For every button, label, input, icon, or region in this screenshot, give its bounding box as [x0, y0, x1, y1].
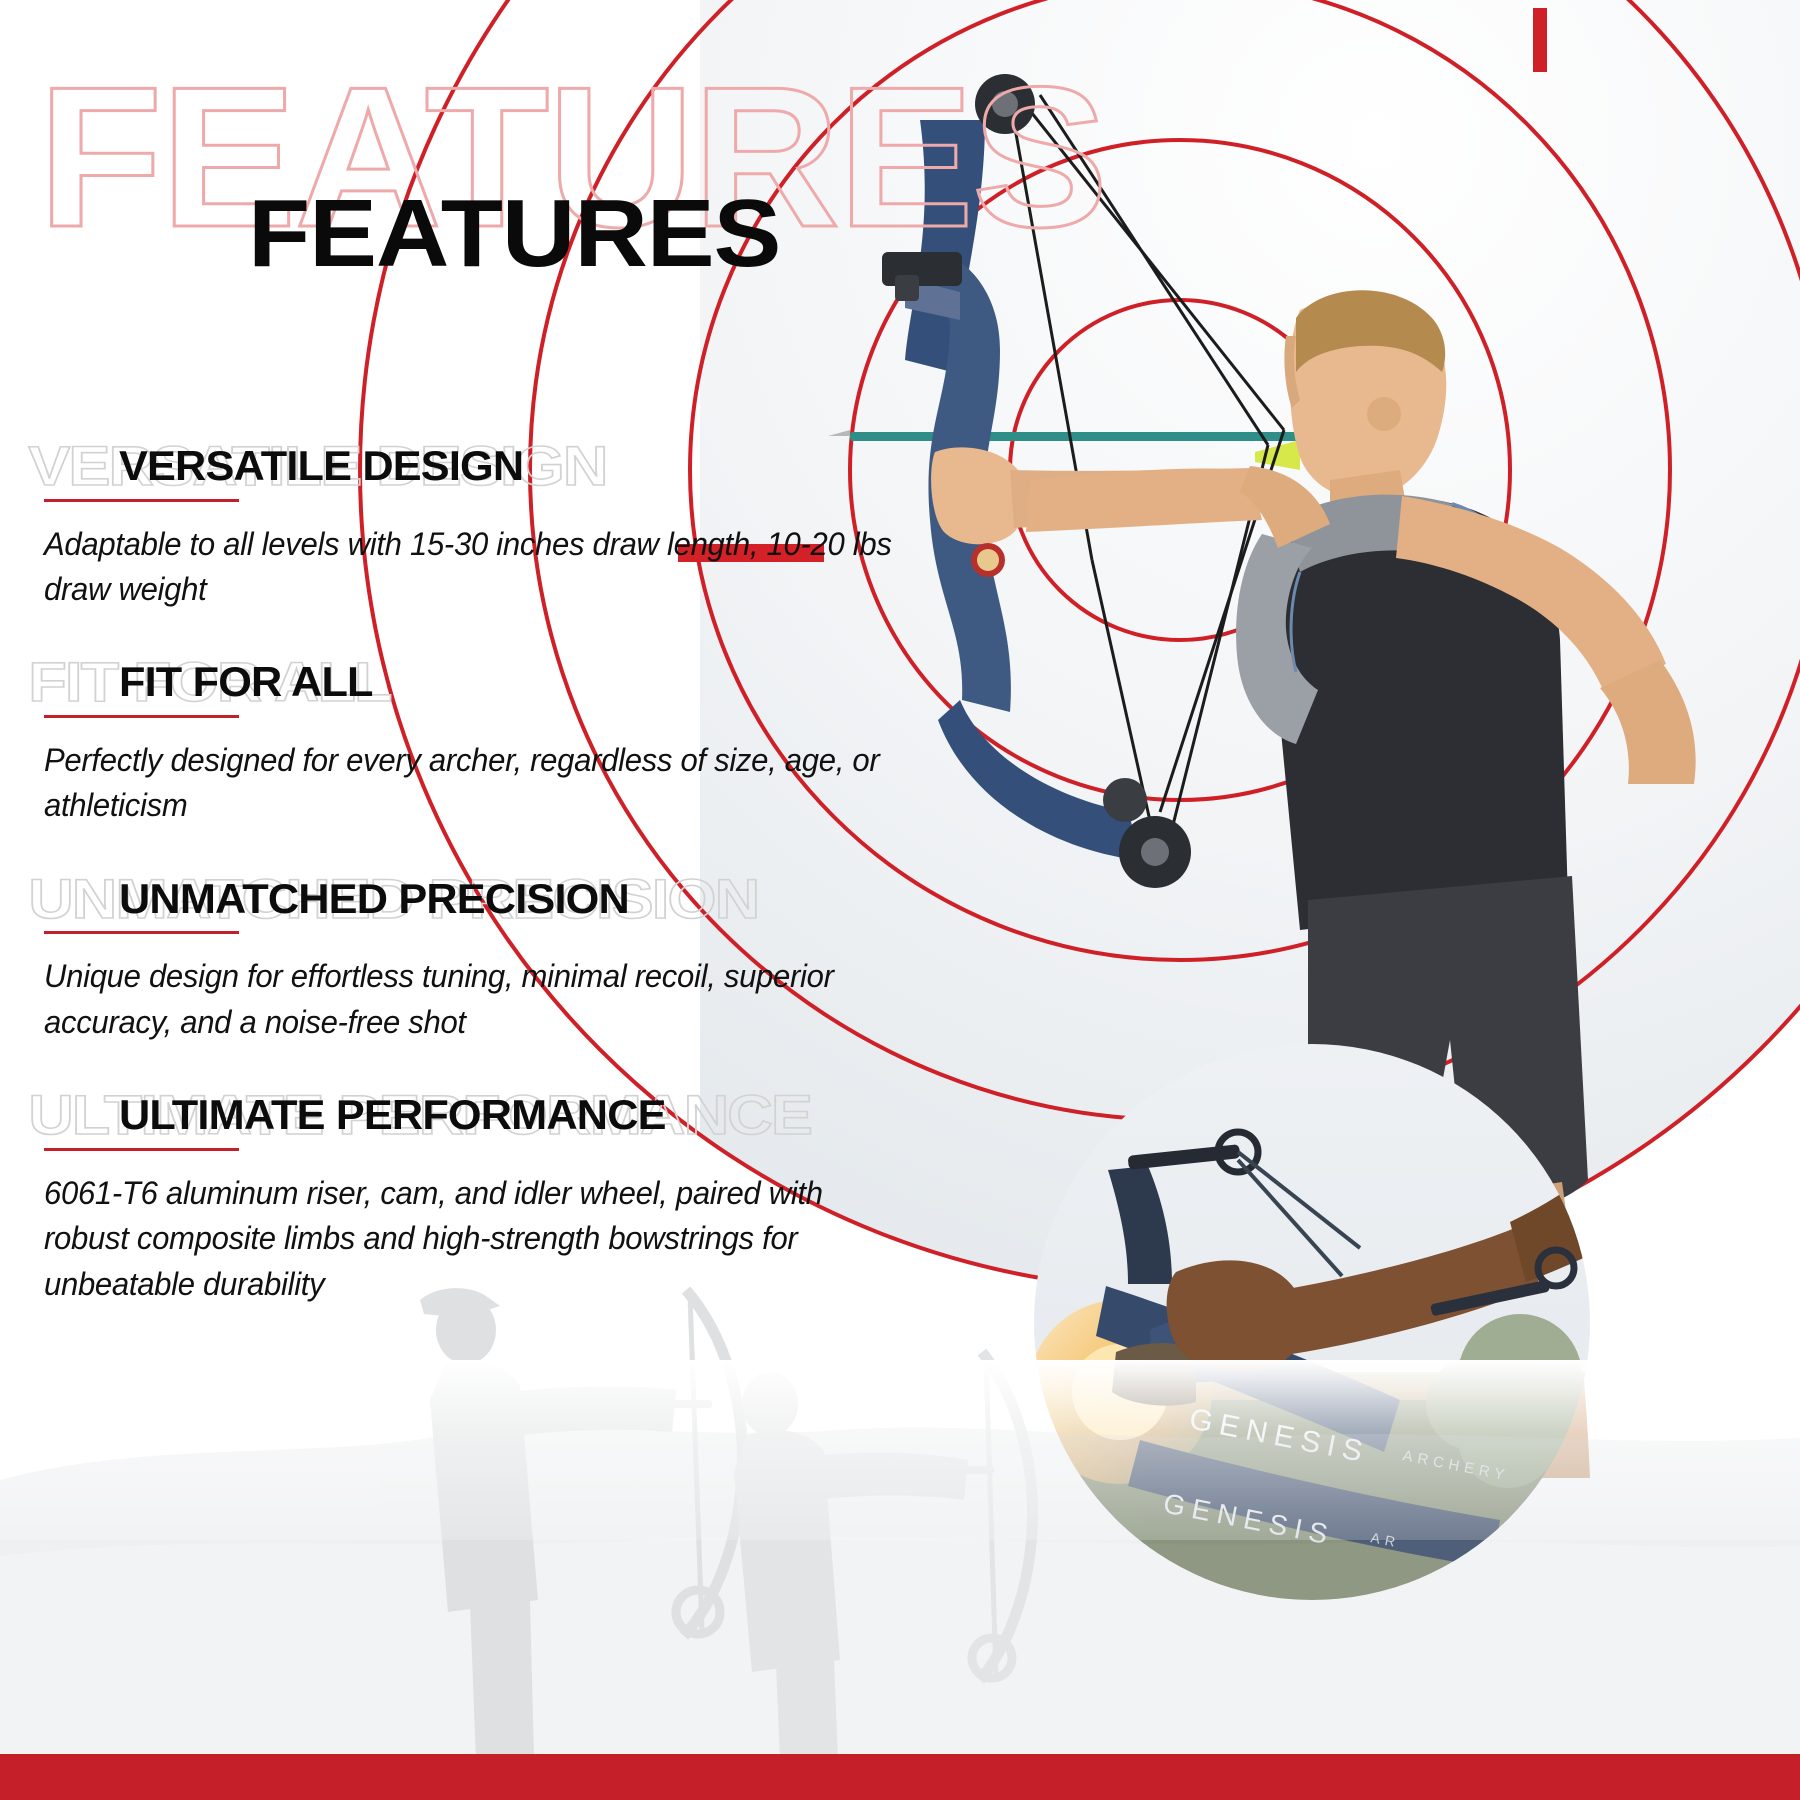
feature-description: Adaptable to all levels with 15-30 inche… [44, 522, 898, 613]
feature-title: ULTIMATE PERFORMANCE [119, 1089, 666, 1142]
poster-canvas: GENESIS ARCHERY GENESIS AR [0, 0, 1800, 1800]
page-header: FEATURES FEATURES [0, 0, 1100, 330]
bottom-bar [0, 1754, 1800, 1800]
feature-list: VERSATILE DESIGN VERSATILE DESIGN Adapta… [0, 440, 1000, 1351]
feature-description: Perfectly designed for every archer, reg… [44, 738, 898, 829]
feature-underline [44, 499, 239, 502]
feature-underline [44, 931, 239, 934]
feature-item-fit-for-all: FIT FOR ALL FIT FOR ALL Perfectly design… [0, 656, 1000, 828]
tick-top-icon [1533, 8, 1547, 72]
feature-title: VERSATILE DESIGN [119, 440, 523, 493]
feature-underline [44, 715, 239, 718]
feature-description: Unique design for effortless tuning, min… [44, 954, 898, 1045]
feature-item-unmatched-precision: UNMATCHED PRECISION UNMATCHED PRECISION … [0, 873, 1000, 1045]
feature-item-ultimate-performance: ULTIMATE PERFORMANCE ULTIMATE PERFORMANC… [0, 1089, 1000, 1307]
feature-underline [44, 1148, 239, 1151]
feature-item-versatile-design: VERSATILE DESIGN VERSATILE DESIGN Adapta… [0, 440, 1000, 612]
feature-title: UNMATCHED PRECISION [119, 873, 629, 926]
feature-description: 6061-T6 aluminum riser, cam, and idler w… [44, 1171, 898, 1307]
page-title: FEATURES [248, 186, 780, 282]
feature-title: FIT FOR ALL [119, 656, 373, 709]
